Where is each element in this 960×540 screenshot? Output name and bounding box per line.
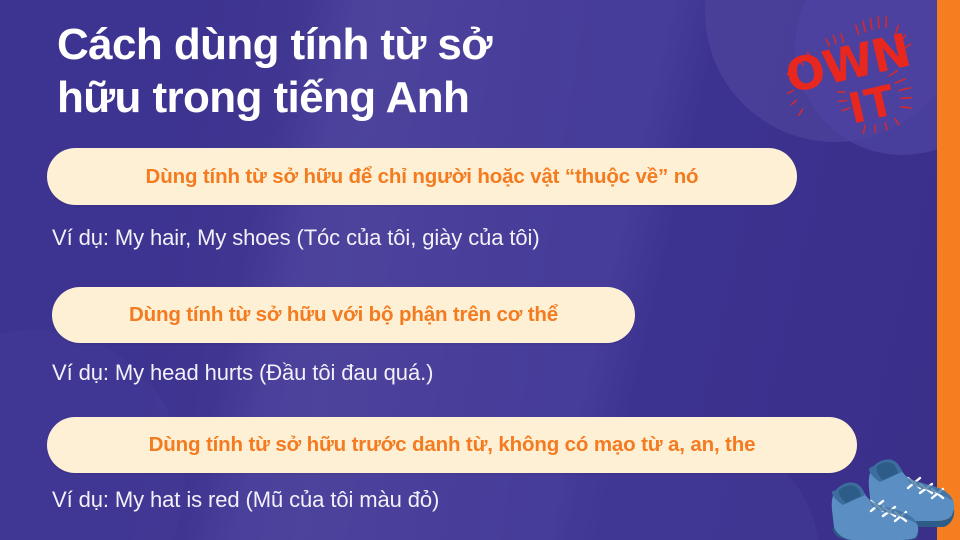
rule-pill-2: Dùng tính từ sở hữu với bộ phận trên cơ …	[52, 287, 635, 343]
own-it-logo-icon: OWN IT	[780, 14, 930, 139]
page-title-line-2: hữu trong tiếng Anh	[57, 71, 677, 124]
rule-pill-1: Dùng tính từ sở hữu để chỉ người hoặc vậ…	[47, 148, 797, 205]
slide-canvas: Cách dùng tính từ sở hữu trong tiếng Anh…	[0, 0, 960, 540]
page-title-line-1: Cách dùng tính từ sở	[57, 18, 677, 71]
rule-pill-1-label: Dùng tính từ sở hữu để chỉ người hoặc vậ…	[146, 165, 699, 189]
rule-pill-3-label: Dùng tính từ sở hữu trước danh từ, không…	[149, 433, 756, 457]
rule-pill-2-label: Dùng tính từ sở hữu với bộ phận trên cơ …	[129, 303, 558, 327]
page-title: Cách dùng tính từ sở hữu trong tiếng Anh	[57, 18, 677, 124]
rule-example-3: Ví dụ: My hat is red (Mũ của tôi màu đỏ)	[52, 487, 439, 513]
sneakers-illustration-icon	[828, 430, 960, 540]
svg-text:IT: IT	[844, 75, 900, 133]
rule-example-2: Ví dụ: My head hurts (Đầu tôi đau quá.)	[52, 360, 433, 386]
rule-pill-3: Dùng tính từ sở hữu trước danh từ, không…	[47, 417, 857, 473]
rule-example-1: Ví dụ: My hair, My shoes (Tóc của tôi, g…	[52, 225, 540, 251]
